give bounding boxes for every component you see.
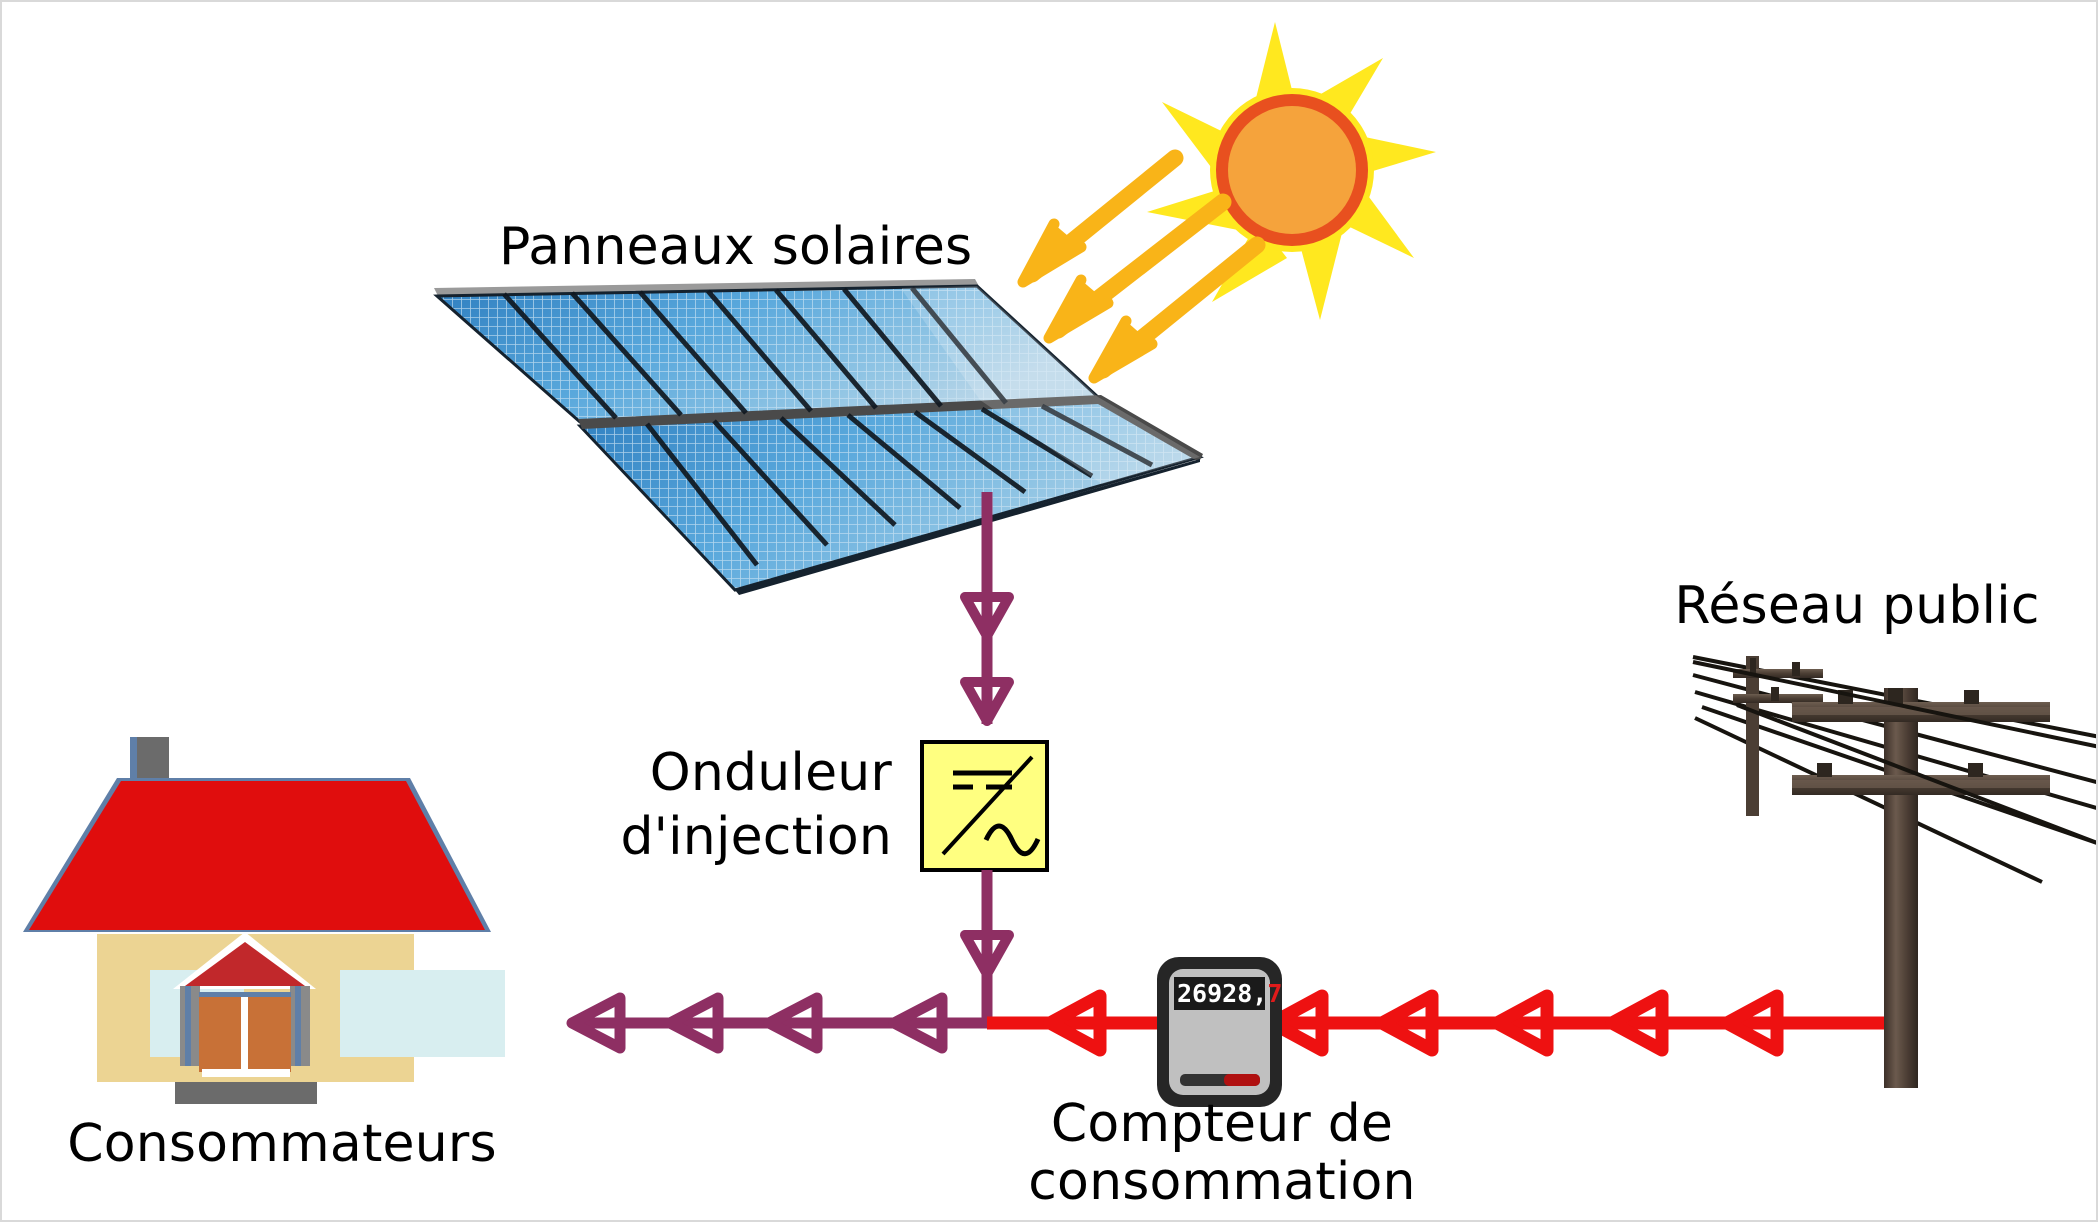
label-panneaux-solaires: Panneaux solaires xyxy=(499,218,972,276)
sun-ray-3 xyxy=(1094,245,1257,378)
diagram-canvas: Panneaux solaires Onduleur d'injection C… xyxy=(0,0,2098,1222)
house-illustration xyxy=(23,737,505,1104)
meter-reading-whole: 26928, xyxy=(1174,979,1267,1008)
meter-reading-decimal: 7 xyxy=(1267,979,1282,1008)
label-consommateurs: Consommateurs xyxy=(52,1115,512,1173)
sun-icon xyxy=(1147,22,1436,320)
flow-inverter-to-bus xyxy=(965,870,1009,1023)
label-compteur-line2: consommation xyxy=(1002,1153,1442,1211)
flow-grid-to-bus xyxy=(987,996,1900,1050)
roof xyxy=(29,781,485,930)
solar-panel-array xyxy=(434,279,1203,595)
window-right2 xyxy=(340,970,434,1057)
label-reseau-public: Réseau public xyxy=(1657,577,2057,635)
label-onduleur-line1: Onduleur xyxy=(562,744,892,802)
pole-mast xyxy=(1884,688,1918,1088)
label-onduleur-line2: d'injection xyxy=(562,808,892,866)
sun-ray-2 xyxy=(1049,202,1223,338)
meter-reading: 26928, 7 xyxy=(1174,978,1265,1009)
flow-bus-to-consumers xyxy=(572,998,987,1048)
porch-step xyxy=(175,1082,317,1104)
label-compteur-line1: Compteur de xyxy=(1002,1095,1442,1153)
inverter-box[interactable] xyxy=(922,742,1047,870)
